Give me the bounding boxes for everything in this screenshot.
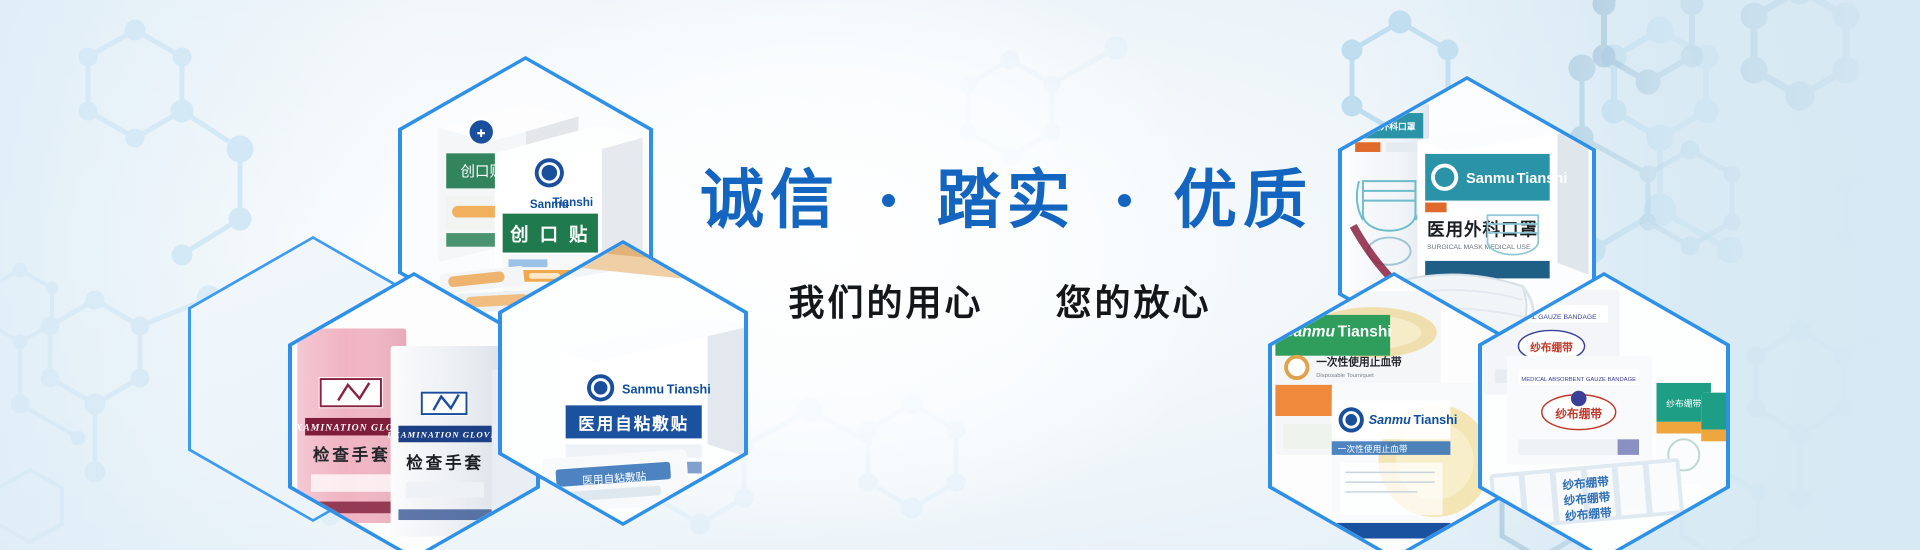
svg-text:Tianshi: Tianshi — [1338, 323, 1392, 340]
svg-text:Tianshi: Tianshi — [1517, 171, 1568, 187]
svg-text:Sanmu: Sanmu — [1369, 413, 1411, 427]
svg-text:Disposable Tourniquet: Disposable Tourniquet — [1316, 373, 1374, 379]
svg-text:Sanmu: Sanmu — [622, 383, 664, 397]
headline-part-3: 优质 — [1173, 164, 1313, 236]
svg-text:一次性使用止血带: 一次性使用止血带 — [1338, 443, 1408, 454]
headline-separator-dot-2 — [1118, 194, 1131, 207]
svg-text:Tianshi: Tianshi — [552, 196, 593, 209]
hero-banner: ✚ 创口贴 Sanmu — [0, 0, 1920, 550]
subheadline-part-1: 我们的用心 — [788, 282, 983, 323]
headline-part-2: 踏实 — [937, 164, 1077, 236]
svg-text:Sanmu: Sanmu — [1466, 171, 1515, 187]
headline-part-1: 诚信 — [700, 164, 840, 236]
svg-text:检查手套: 检查手套 — [406, 453, 484, 473]
svg-text:Tianshi: Tianshi — [1413, 413, 1457, 427]
svg-text:✚: ✚ — [477, 128, 486, 140]
headline-separator-dot-1 — [882, 194, 895, 207]
svg-text:医用自粘敷贴: 医用自粘敷贴 — [578, 414, 689, 434]
subheadline-part-2: 您的放心 — [1056, 282, 1212, 323]
svg-text:一次性使用止血带: 一次性使用止血带 — [1316, 355, 1402, 368]
svg-text:SURGICAL MASK MEDICAL USE: SURGICAL MASK MEDICAL USE — [1427, 244, 1531, 251]
svg-text:创 口 贴: 创 口 贴 — [509, 224, 590, 245]
banner-headline: 诚信 踏实 优质 — [700, 168, 1300, 232]
svg-text:Tianshi: Tianshi — [667, 383, 711, 397]
svg-text:EXAMINATION GLOVES: EXAMINATION GLOVES — [386, 429, 503, 439]
svg-text:医用外科口罩: 医用外科口罩 — [1427, 220, 1538, 240]
banner-subheadline: 我们的用心 您的放心 — [700, 285, 1300, 321]
svg-text:检查手套: 检查手套 — [313, 445, 391, 465]
